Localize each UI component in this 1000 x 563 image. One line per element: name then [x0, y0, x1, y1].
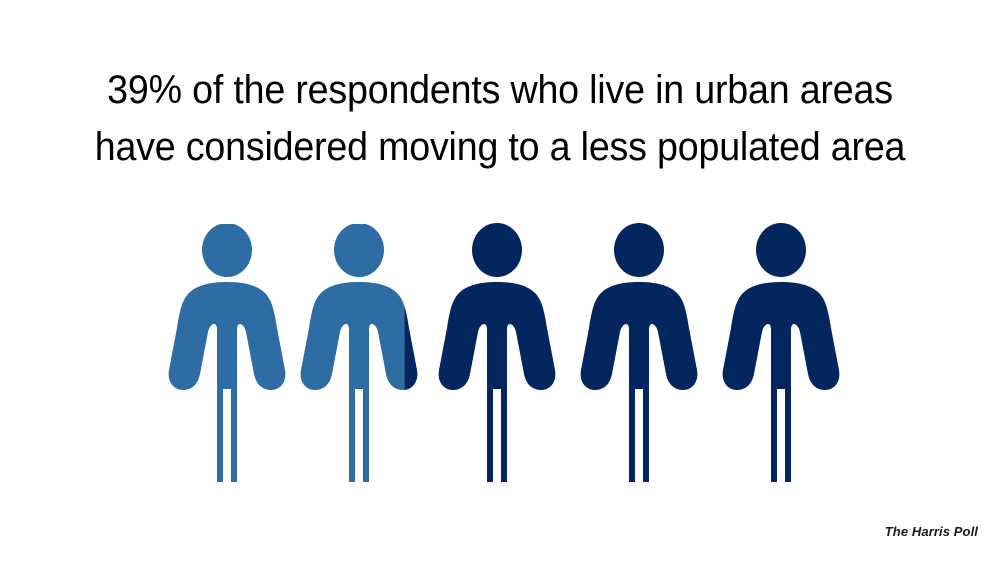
person-icon-4 [576, 224, 702, 486]
person-icon-1-filled [169, 223, 286, 482]
infographic-slide: 39% of the respondents who live in urban… [0, 0, 1000, 563]
title-line-2: have considered moving to a less populat… [30, 119, 970, 176]
person-icon-3-remainder [439, 223, 556, 482]
person-icon-2 [296, 224, 422, 486]
person-icon-2-filled [301, 223, 418, 482]
person-icon-1 [164, 224, 290, 486]
person-icon-4-remainder [581, 223, 698, 482]
person-icon-3 [434, 224, 560, 486]
page-title: 39% of the respondents who live in urban… [0, 62, 1000, 176]
person-icon-5-remainder [723, 223, 840, 482]
person-icon-5 [718, 224, 844, 486]
title-line-1: 39% of the respondents who live in urban… [30, 62, 970, 119]
source-credit: The Harris Poll [885, 524, 978, 539]
pictogram-chart [0, 224, 1000, 486]
